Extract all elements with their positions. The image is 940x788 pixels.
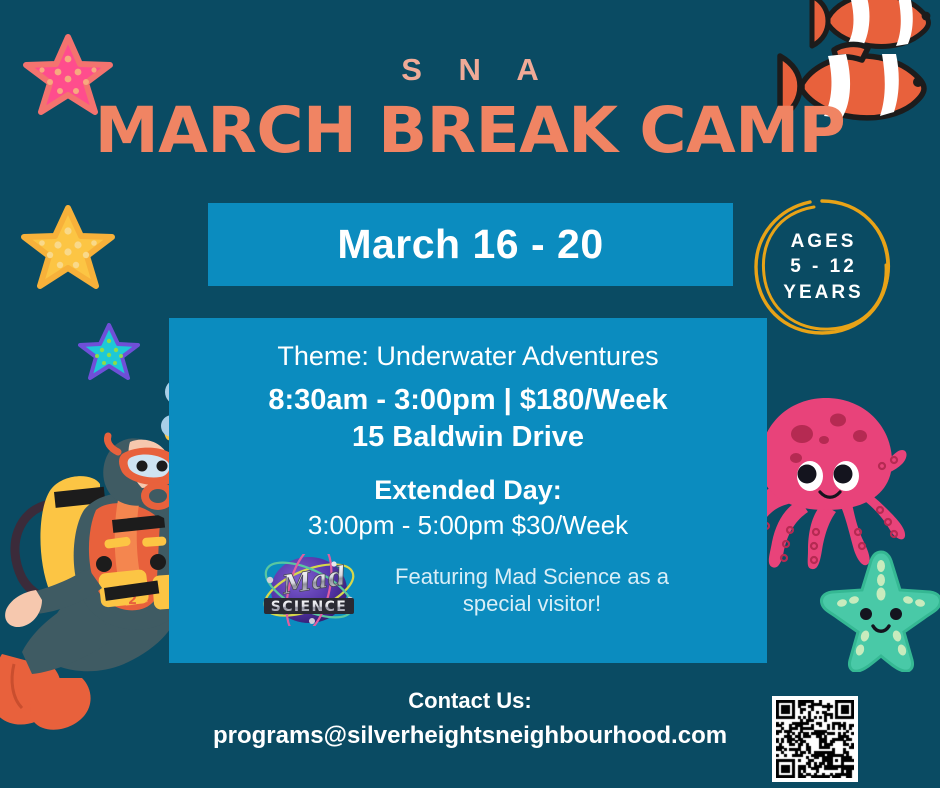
- ages-line-2: 5 - 12: [787, 254, 857, 279]
- svg-text:2: 2: [128, 593, 137, 608]
- extended-day-title: Extended Day:: [169, 475, 767, 506]
- page-title: MARCH BREAK CAMP: [0, 99, 940, 162]
- featuring-row: Mad SCIENCE Featuring Mad Science as a s…: [169, 554, 767, 626]
- mad-logo-word-bottom: SCIENCE: [271, 599, 348, 615]
- starfish-cyan-icon: [78, 323, 140, 381]
- svg-text:O: O: [114, 583, 128, 603]
- date-banner: March 16 - 20: [208, 203, 733, 286]
- octopus-pink-icon: [742, 392, 910, 570]
- ages-badge: AGES 5 - 12 YEARS: [748, 193, 896, 341]
- info-panel: Theme: Underwater Adventures 8:30am - 3:…: [169, 318, 767, 663]
- featuring-text: Featuring Mad Science as a special visit…: [382, 563, 682, 618]
- theme-text: Theme: Underwater Adventures: [169, 341, 767, 372]
- ages-badge-text: AGES 5 - 12 YEARS: [748, 193, 896, 341]
- starfish-green-icon: [818, 548, 940, 672]
- extended-day-detail: 3:00pm - 5:00pm $30/Week: [169, 510, 767, 541]
- date-banner-text: March 16 - 20: [337, 221, 603, 268]
- address-text: 15 Baldwin Drive: [169, 421, 767, 454]
- ages-line-3: YEARS: [780, 280, 863, 305]
- qr-code[interactable]: [772, 696, 858, 782]
- starfish-yellow-icon: [20, 205, 116, 291]
- clownfish-top-icon: [806, 0, 940, 60]
- organization-initials: S N A: [0, 52, 940, 88]
- time-price-text: 8:30am - 3:00pm | $180/Week: [169, 384, 767, 417]
- mad-science-logo: Mad SCIENCE: [254, 554, 364, 626]
- poster-canvas: O 2 S N A MARCH BREA: [0, 0, 940, 788]
- ages-line-1: AGES: [788, 229, 857, 254]
